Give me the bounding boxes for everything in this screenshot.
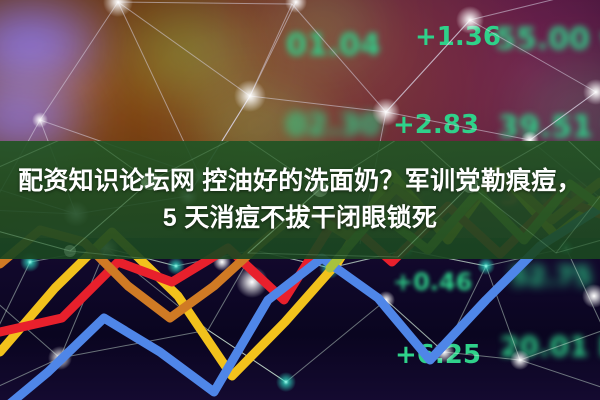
- ticker-number: 20.01 N: [500, 330, 600, 363]
- banner-image: +1.36+2.83+6.25+0.4601.0402.3055.00 v39.…: [0, 0, 600, 400]
- ticker-number: 02.30: [286, 108, 381, 143]
- ticker-number: +6.25: [395, 340, 481, 370]
- ticker-number: 39.51 v: [498, 110, 600, 145]
- ticker-number: 01.04: [286, 28, 381, 63]
- ticker-number: 52.75: [510, 262, 592, 292]
- ticker-number: +1.36: [415, 22, 501, 52]
- title-line-2: 5 天消痘不拔干闭眼锁死: [10, 200, 590, 237]
- title-text: 配资知识论坛网 控油好的洗面奶？军训党勒痕痘， 5 天消痘不拔干闭眼锁死: [10, 163, 590, 237]
- title-line-1: 配资知识论坛网 控油好的洗面奶？军训党勒痕痘，: [10, 163, 590, 200]
- ticker-number: +2.83: [393, 110, 479, 140]
- network-links-lower: [0, 248, 600, 392]
- ticker-number: +0.46: [393, 268, 472, 296]
- title-overlay-band: 配资知识论坛网 控油好的洗面奶？军训党勒痕痘， 5 天消痘不拔干闭眼锁死: [0, 141, 600, 259]
- background-lower-navy: [0, 238, 600, 400]
- ticker-number: 55.00 v: [495, 22, 600, 57]
